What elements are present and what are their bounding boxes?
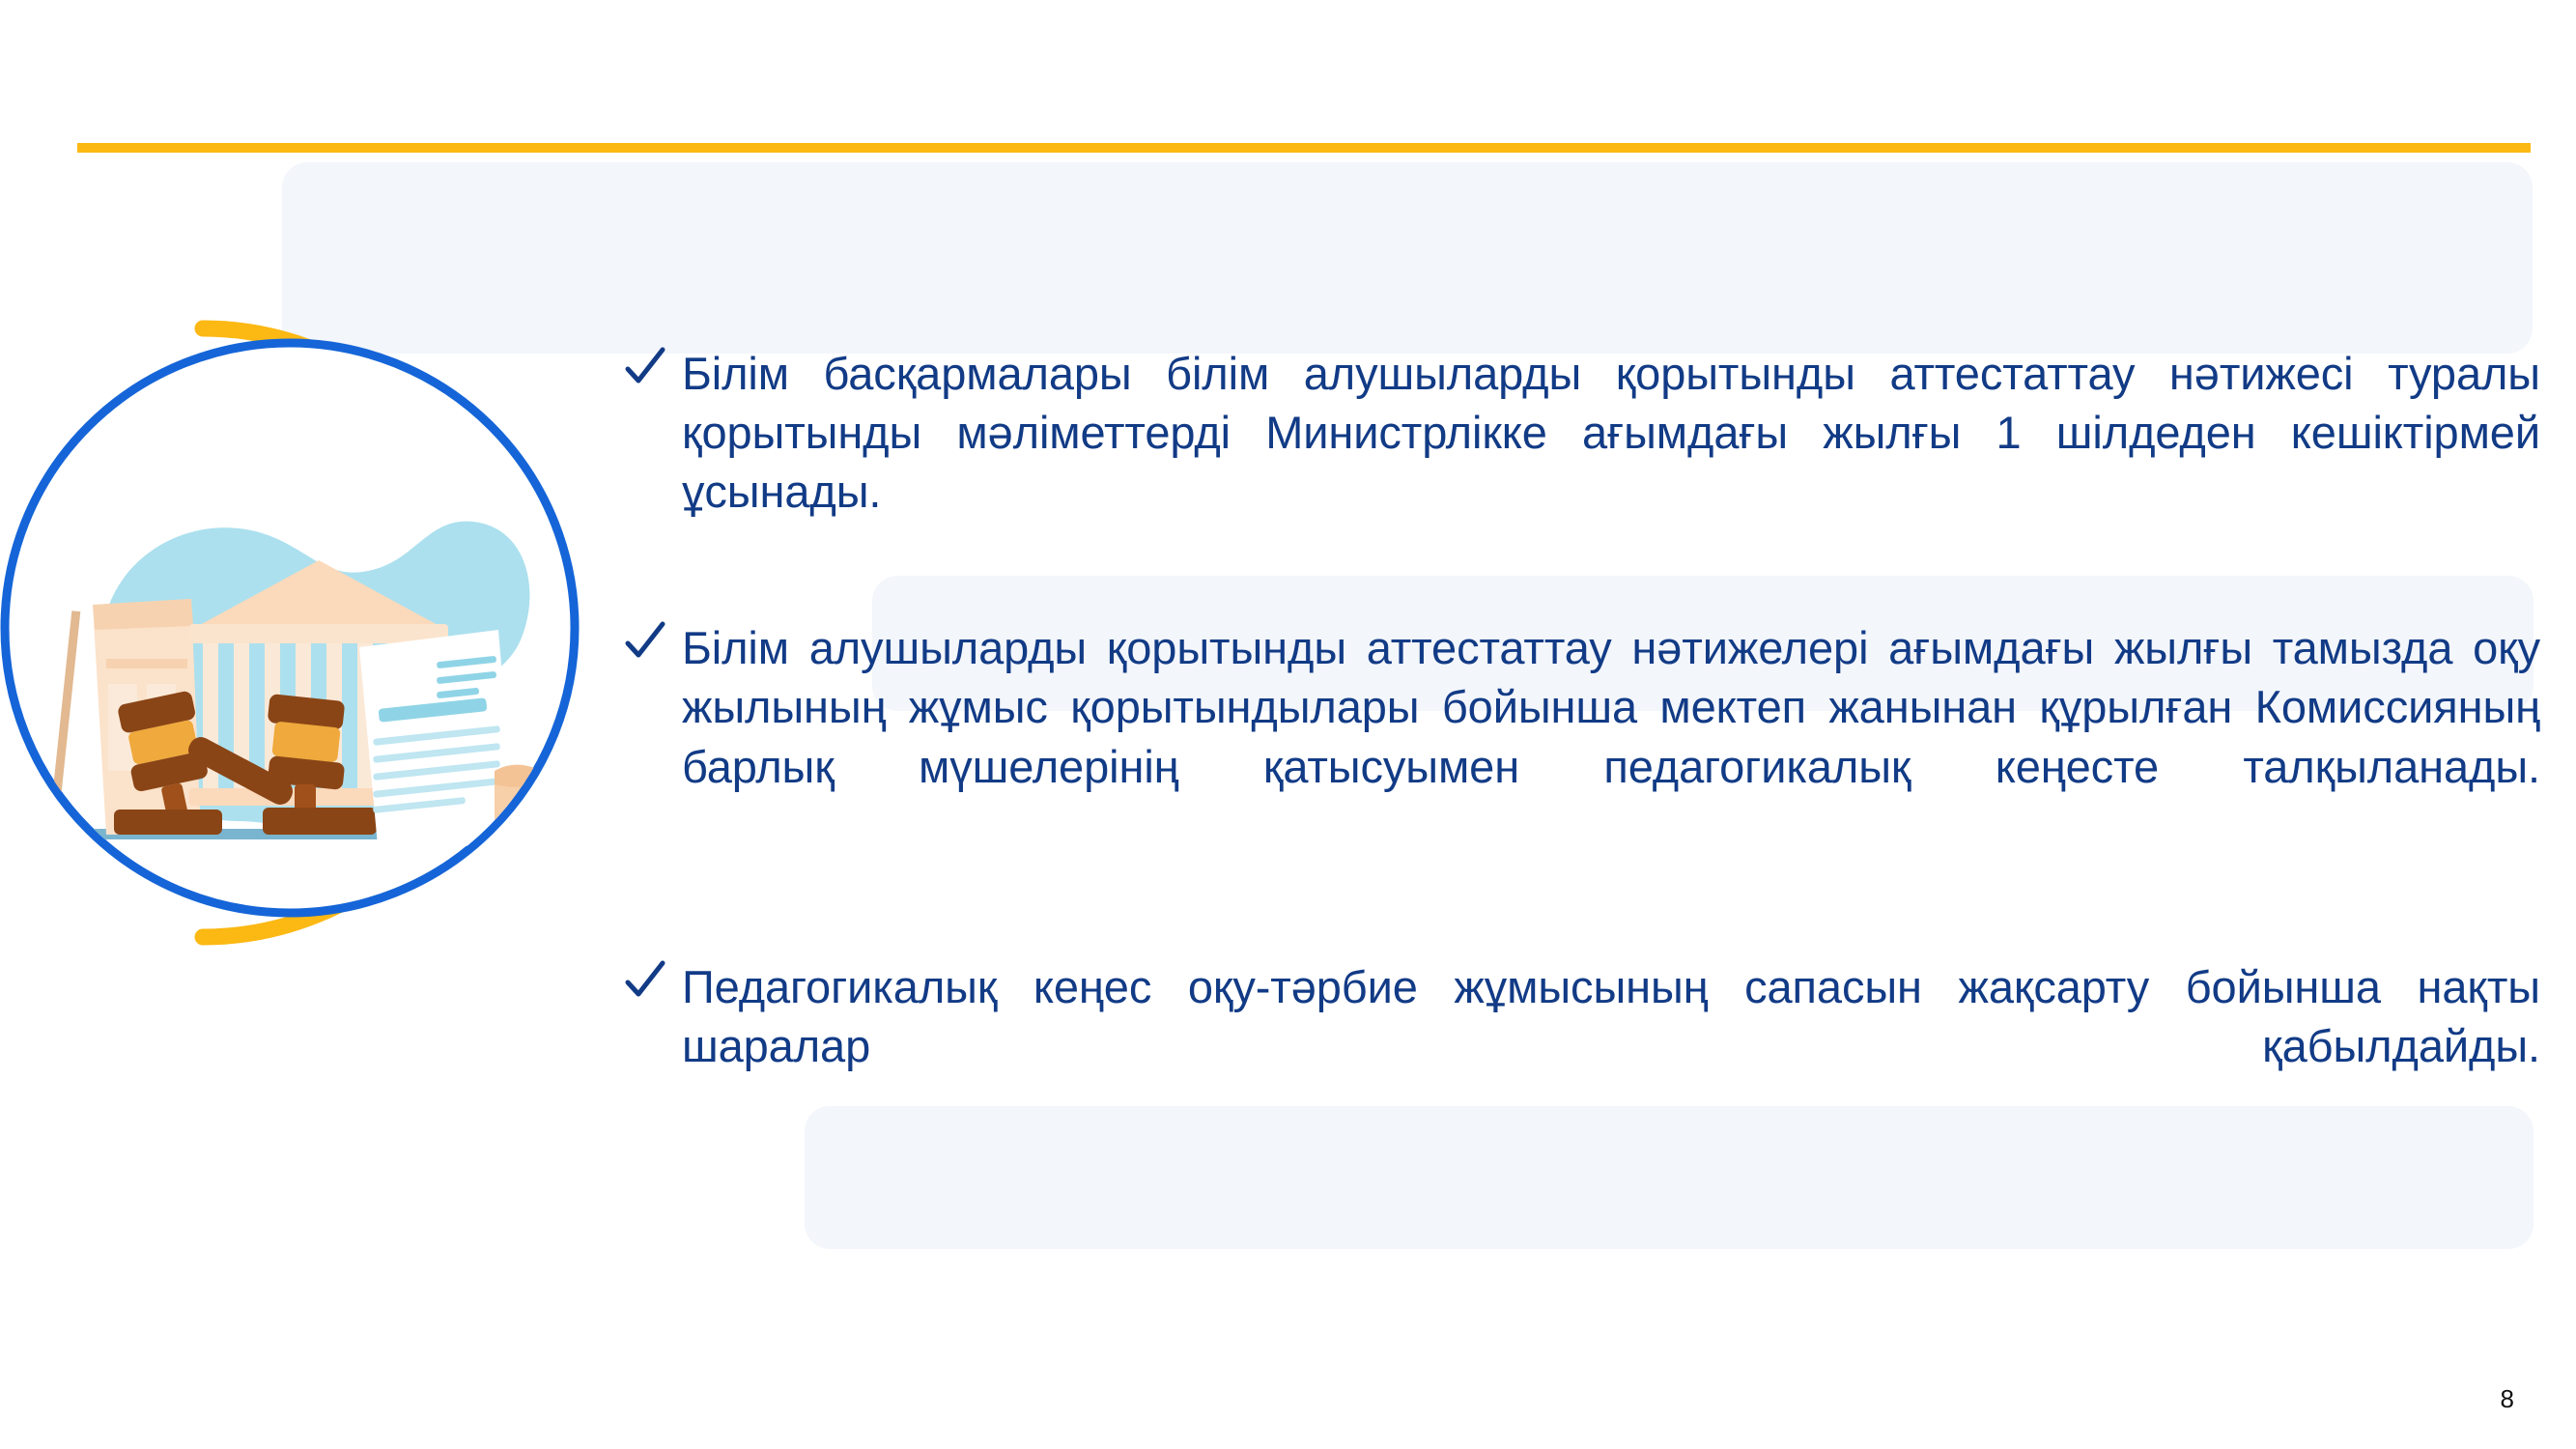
bullet-text-2: Білім алушыларды қорытынды аттестаттау н… (682, 618, 2540, 854)
top-accent-rule (77, 143, 2531, 153)
check-mark-icon (624, 620, 666, 665)
bullet-list: Білім басқармалары білім алушыларды қоры… (618, 344, 2540, 1134)
bullet-item-2: Білім алушыларды қорытынды аттестаттау н… (618, 618, 2540, 854)
page-number: 8 (2501, 1384, 2514, 1414)
gavel-left-block (114, 810, 222, 835)
check-mark-icon (624, 346, 666, 390)
text-backdrop-panel-1 (282, 162, 2533, 354)
document-paper (359, 630, 516, 856)
bullet-item-3: Педагогикалық кеңес оқу-тәрбие жұмысының… (618, 957, 2540, 1134)
gavel-right-block (263, 808, 377, 835)
bullet-text-1: Білім басқармалары білім алушыларды қоры… (682, 344, 2540, 580)
bullet-item-1: Білім басқармалары білім алушыларды қоры… (618, 344, 2540, 580)
bullet-text-3: Педагогикалық кеңес оқу-тәрбие жұмысының… (682, 957, 2540, 1134)
check-mark-icon (624, 959, 666, 1004)
slide-root: Білім басқармалары білім алушыларды қоры… (0, 0, 2576, 1449)
hand-and-sleeve (495, 765, 618, 860)
illustration-badge (0, 319, 618, 947)
